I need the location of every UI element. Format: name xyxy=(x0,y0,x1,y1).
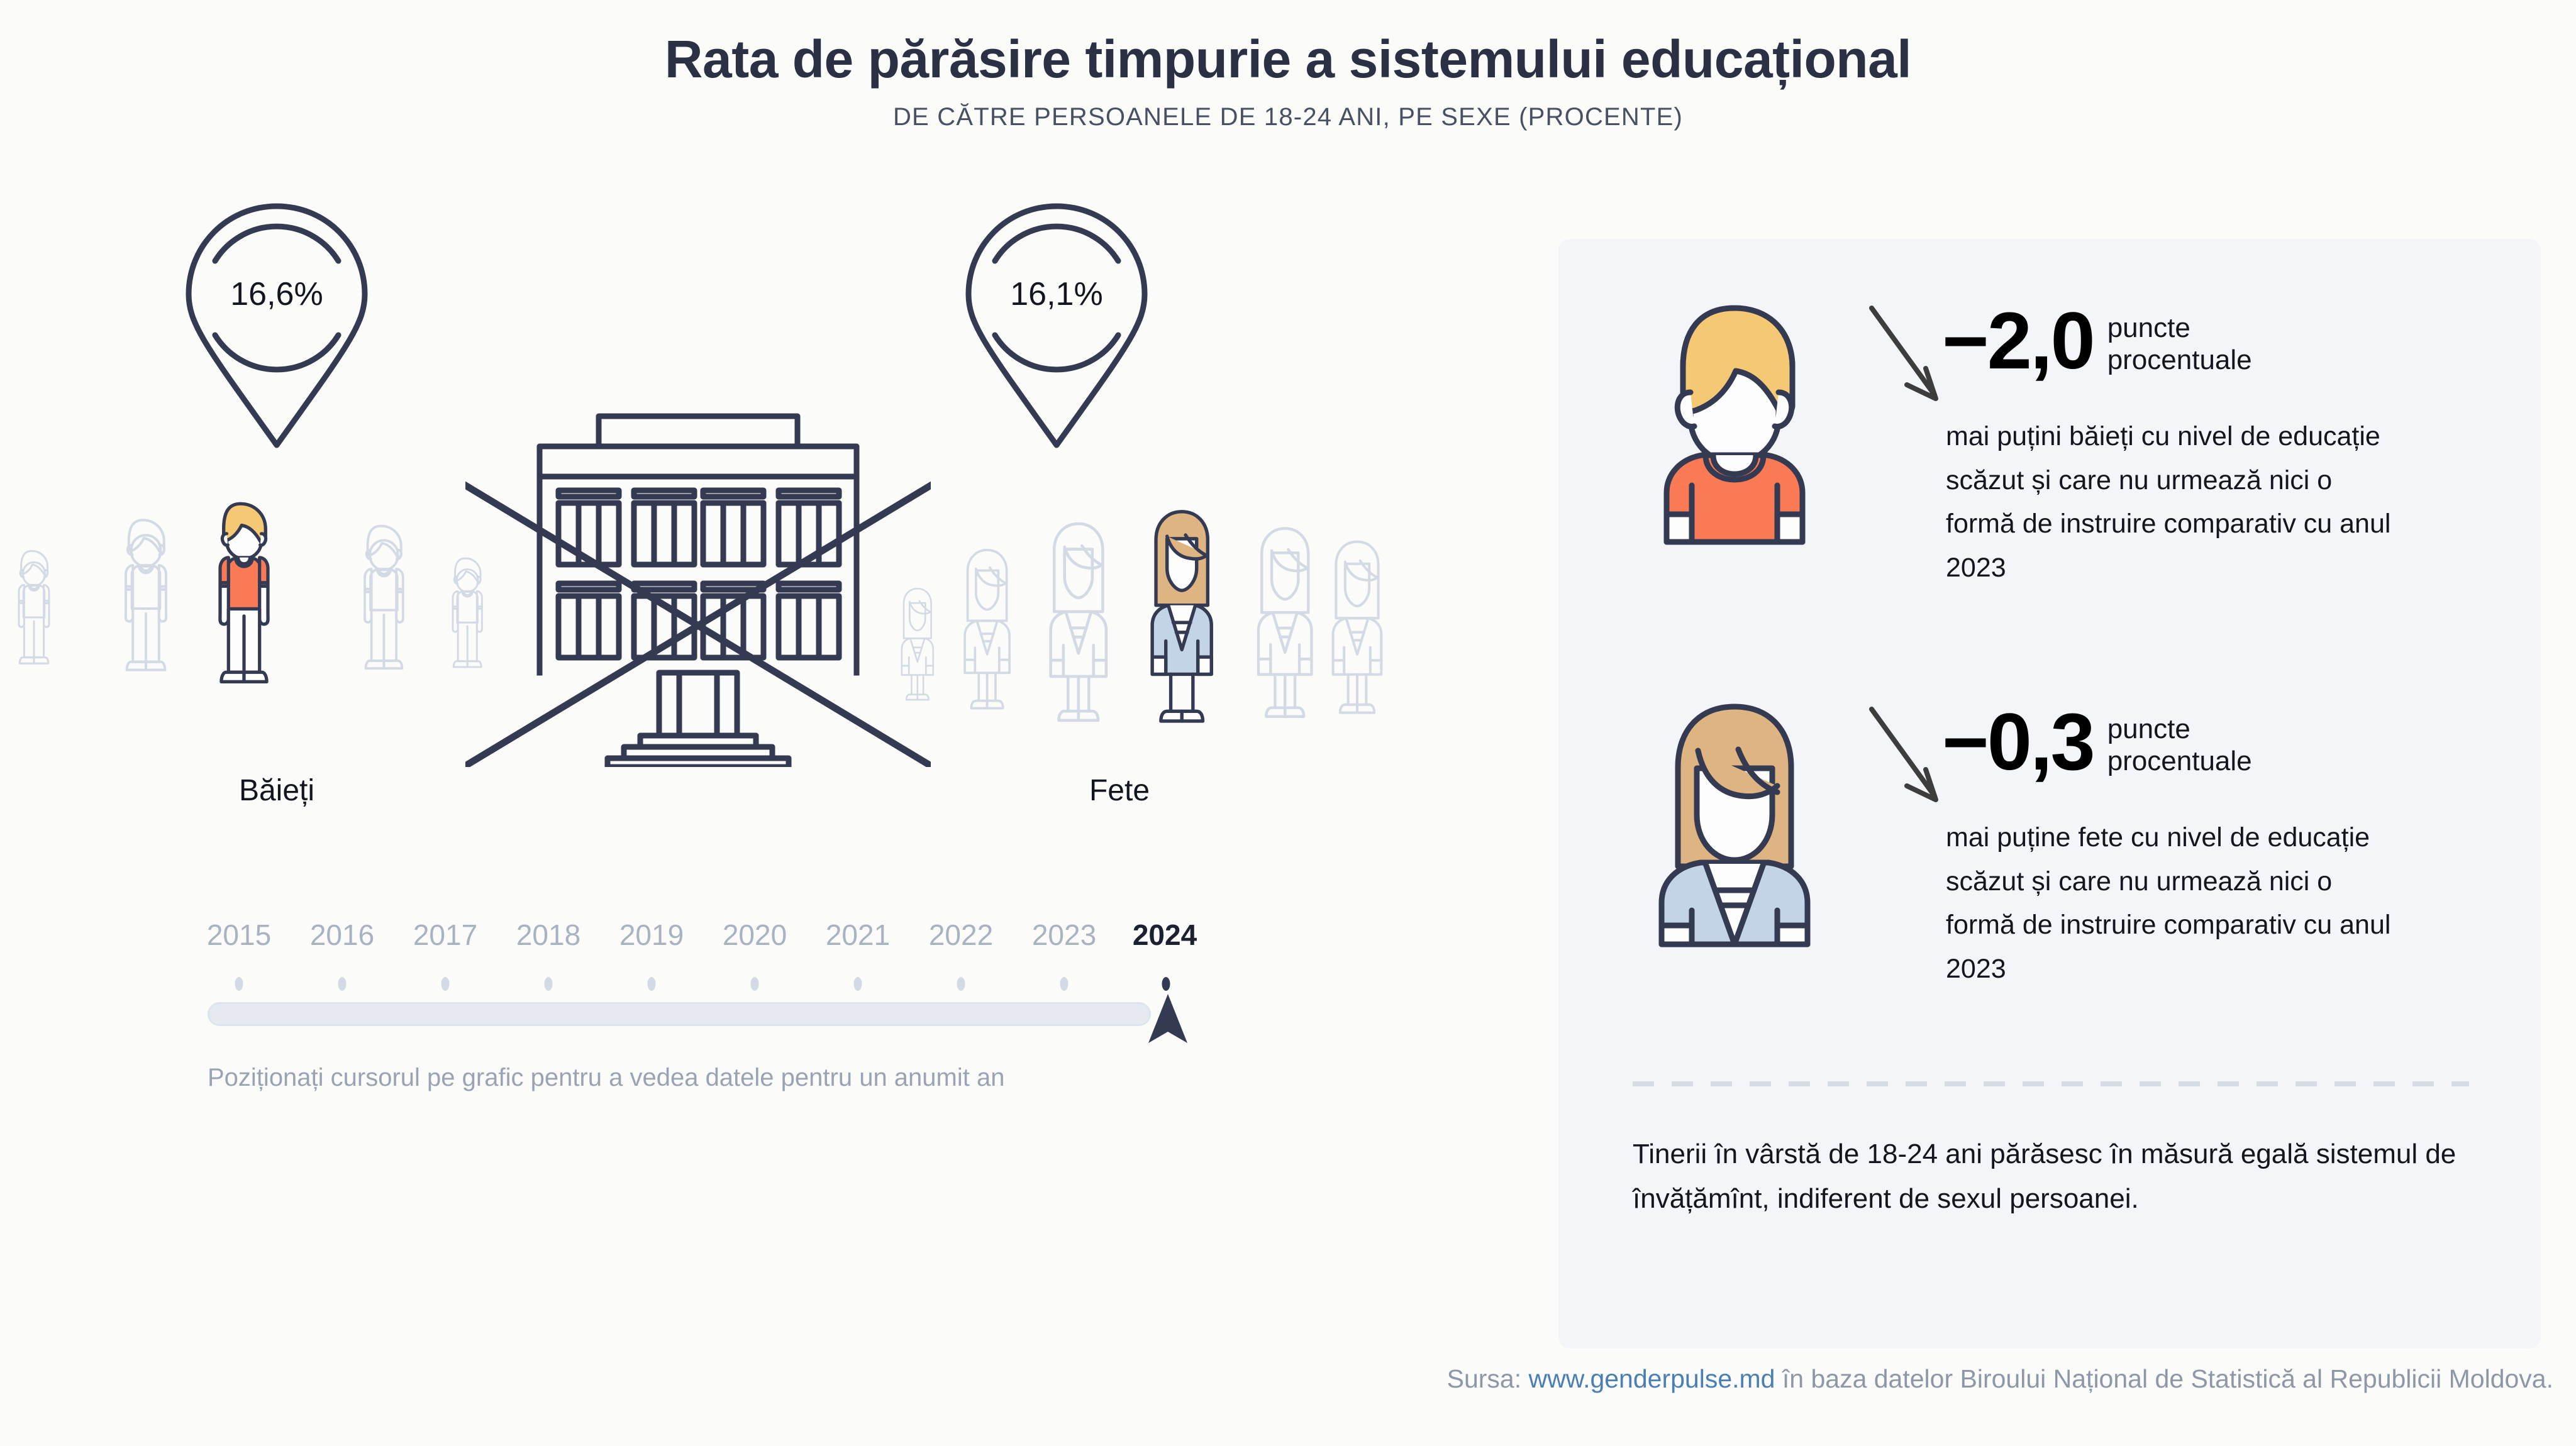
school-building-icon xyxy=(465,409,931,767)
year-tick-2023[interactable] xyxy=(1060,977,1069,991)
figure-group-girls xyxy=(893,465,1409,758)
panel-divider xyxy=(1633,1081,2469,1086)
year-tick-2019[interactable] xyxy=(648,977,656,991)
year-label-2022[interactable]: 2022 xyxy=(929,918,993,952)
stat-unit-girls: puncte procentuale xyxy=(2107,713,2252,777)
year-label-2020[interactable]: 2020 xyxy=(723,918,787,952)
school-building xyxy=(465,409,931,770)
pin-value-girls: 16,1% xyxy=(962,275,1151,313)
page-subtitle: DE CĂTRE PERSOANELE DE 18-24 ANI, PE SEX… xyxy=(0,103,2576,131)
year-label-2021[interactable]: 2021 xyxy=(826,918,890,952)
pin-value-boys: 16,6% xyxy=(182,275,371,313)
year-label-2024[interactable]: 2024 xyxy=(1133,918,1197,952)
source-link[interactable]: www.genderpulse.md xyxy=(1529,1364,1775,1393)
stat-number-row-boys: −2,0 puncte procentuale xyxy=(1942,303,2252,380)
boy-bust-illustration xyxy=(1653,297,1816,551)
stat-unit-line2-boys: procentuale xyxy=(2107,345,2252,375)
pin-shape-boys xyxy=(182,201,371,453)
source-prefix: Sursa: xyxy=(1447,1364,1529,1393)
stat-unit-line1-boys: puncte xyxy=(2107,312,2190,343)
year-label-2015[interactable]: 2015 xyxy=(207,918,271,952)
year-tick-2015[interactable] xyxy=(235,977,243,991)
pin-marker-girls: 16,1% xyxy=(962,201,1151,453)
visualization-area: 16,6% 16,1% xyxy=(0,207,1509,874)
year-tick-2018[interactable] xyxy=(545,977,553,991)
girls-figures xyxy=(893,465,1409,754)
boys-figures xyxy=(13,459,503,748)
year-label-2018[interactable]: 2018 xyxy=(516,918,580,952)
year-label-2023[interactable]: 2023 xyxy=(1032,918,1096,952)
timeline-handle[interactable] xyxy=(1146,971,1190,1047)
source-footer: Sursa: www.genderpulse.md în baza datelo… xyxy=(0,1364,2553,1394)
year-tick-2021[interactable] xyxy=(854,977,862,991)
timeline-track[interactable] xyxy=(208,1002,1151,1026)
page-title: Rata de părăsire timpurie a sistemului e… xyxy=(0,31,2576,87)
stat-value-girls: −0,3 xyxy=(1942,704,2094,781)
cross-out-x-icon xyxy=(465,485,931,766)
year-tick-2020[interactable] xyxy=(751,977,759,991)
year-label-2016[interactable]: 2016 xyxy=(310,918,374,952)
stat-unit-line1-girls: puncte xyxy=(2107,714,2190,744)
highlighted-boy-figure xyxy=(220,504,268,682)
stat-description-girls: mai puține fete cu nivel de educație scă… xyxy=(1946,816,2399,991)
header: Rata de părăsire timpurie a sistemului e… xyxy=(0,31,2576,131)
stat-number-row-girls: −0,3 puncte procentuale xyxy=(1942,704,2252,781)
figure-group-boys xyxy=(13,459,503,751)
year-timeline[interactable]: 2015 2016 2017 2018 2019 2020 2021 2022 … xyxy=(208,918,1189,1092)
year-label-2019[interactable]: 2019 xyxy=(619,918,684,952)
year-tick-2017[interactable] xyxy=(441,977,450,991)
pin-marker-boys: 16,6% xyxy=(182,201,371,453)
panel-conclusion: Tinerii în vârstă de 18-24 ani părăsesc … xyxy=(1633,1132,2469,1222)
insights-panel: −2,0 puncte procentuale mai puțini băieț… xyxy=(1558,239,2541,1349)
cursor-pointer-icon xyxy=(1146,971,1190,1047)
infographic-root: Rata de părăsire timpurie a sistemului e… xyxy=(0,0,2576,1446)
group-label-boys: Băieți xyxy=(151,773,402,808)
stat-unit-boys: puncte procentuale xyxy=(2107,312,2252,376)
stat-description-boys: mai puțini băieți cu nivel de educație s… xyxy=(1946,415,2399,590)
source-suffix: în baza datelor Biroului Național de Sta… xyxy=(1775,1364,2553,1393)
girl-avatar-icon xyxy=(1653,698,1816,949)
year-ticks xyxy=(208,973,1189,998)
boy-avatar-icon xyxy=(1653,297,1816,548)
year-label-2017[interactable]: 2017 xyxy=(413,918,477,952)
group-label-girls: Fete xyxy=(994,773,1245,808)
highlighted-girl-figure xyxy=(1152,512,1211,721)
timeline-hint: Poziționați cursorul pe grafic pentru a … xyxy=(208,1064,1189,1092)
stat-unit-line2-girls: procentuale xyxy=(2107,746,2252,776)
year-labels: 2015 2016 2017 2018 2019 2020 2021 2022 … xyxy=(208,918,1189,962)
stat-value-boys: −2,0 xyxy=(1942,303,2094,380)
year-tick-2016[interactable] xyxy=(338,977,347,991)
pin-shape-girls xyxy=(962,201,1151,453)
year-tick-2022[interactable] xyxy=(957,977,965,991)
girl-bust-illustration xyxy=(1653,698,1816,952)
